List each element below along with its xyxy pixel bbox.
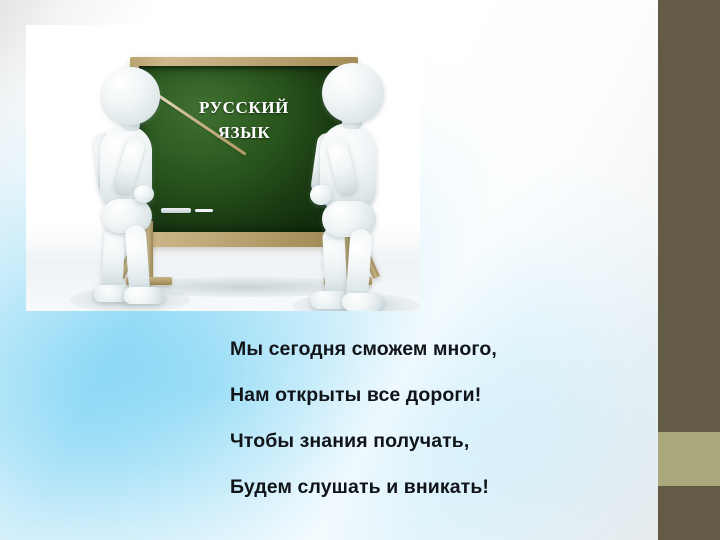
poem-line-4: Будем слушать и вникать! [230,464,650,510]
right-color-band [658,0,720,540]
greeting-poem: Мы сегодня сможем много, Нам открыты все… [230,326,650,510]
band-segment-light-middle [658,432,720,486]
teacher-hand [134,185,154,203]
teacher-foot-front [124,287,164,304]
teacher-head [102,67,160,125]
slide-canvas: РУССКИЙ ЯЗЫК [0,0,720,540]
band-segment-dark-top [658,0,720,432]
poem-line-2: Нам открыты все дороги! [230,372,650,418]
band-segment-dark-bottom [658,486,720,540]
classroom-illustration: РУССКИЙ ЯЗЫК [26,25,420,311]
student-figure [298,63,410,311]
student-hand [310,185,332,205]
student-head [322,63,384,123]
poem-line-3: Чтобы знания получать, [230,418,650,464]
poem-line-1: Мы сегодня сможем много, [230,326,650,372]
chalk-stick [195,209,213,212]
student-foot-front [342,293,384,311]
teacher-figure [76,67,184,305]
teacher-leg-front [125,224,151,295]
